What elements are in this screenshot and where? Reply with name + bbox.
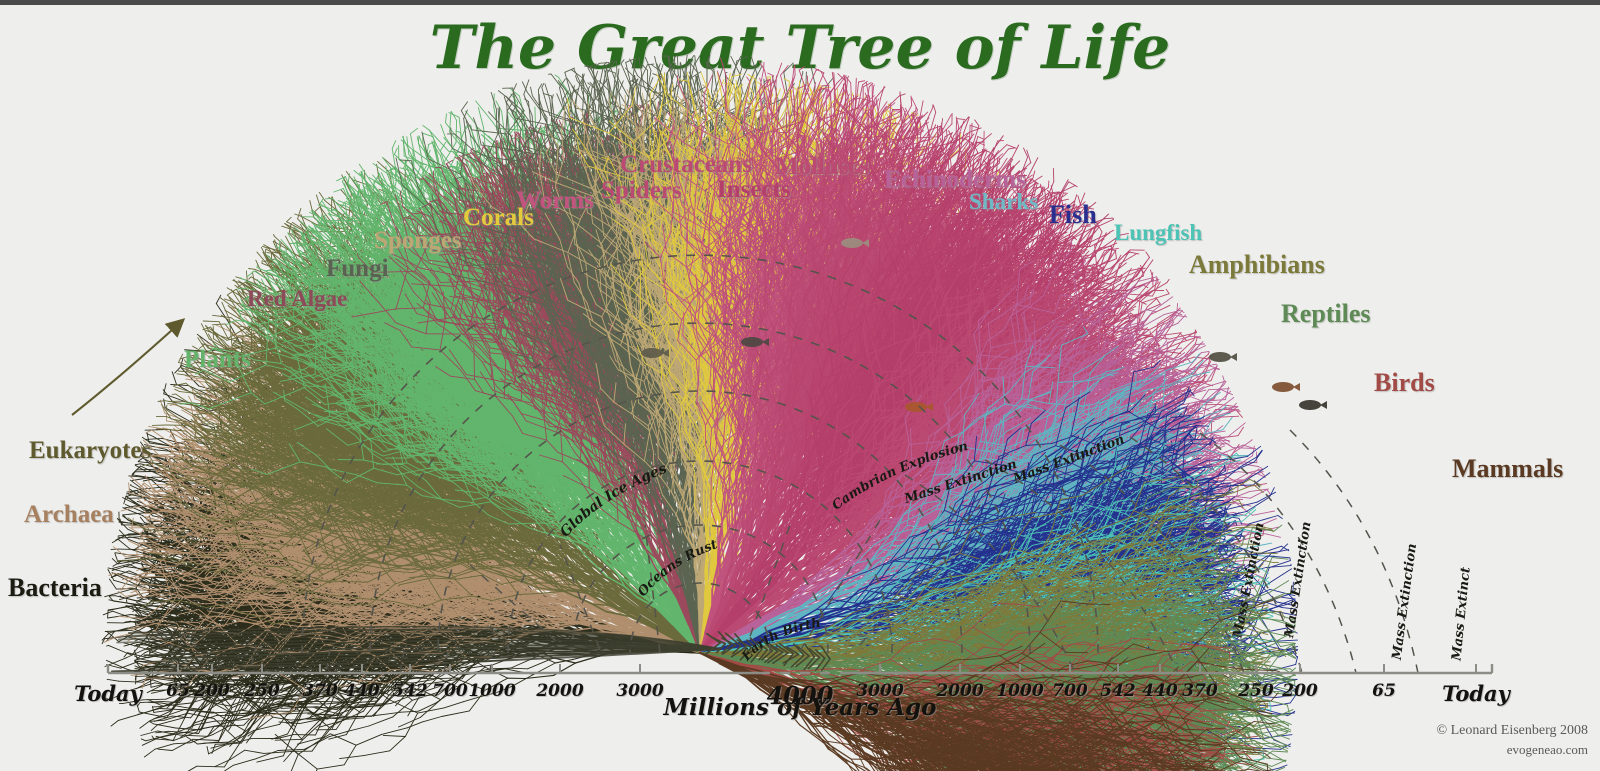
clade-label-fish: Fish xyxy=(1049,200,1097,230)
clade-label-plants: Plants xyxy=(184,346,251,374)
clade-label-spiders: Spiders xyxy=(601,177,682,205)
clade-label-reptiles: Reptiles xyxy=(1281,299,1371,329)
clade-label-bacteria: Bacteria xyxy=(8,573,102,603)
clade-label-worms: Worms xyxy=(516,187,594,215)
clade-label-eukaryotes: Eukaryotes xyxy=(29,437,151,465)
clade-label-fungi: Fungi xyxy=(326,255,389,283)
clade-label-lungfish: Lungfish xyxy=(1114,220,1202,246)
clade-label-sponges: Sponges xyxy=(374,227,462,255)
copyright-credit: © Leonard Eisenberg 2008 evogeneao.com xyxy=(1436,721,1588,760)
credit-author: © Leonard Eisenberg 2008 xyxy=(1436,721,1588,741)
clade-label-molluscs: Molluscs xyxy=(775,153,869,181)
credit-website[interactable]: evogeneao.com xyxy=(1436,741,1588,760)
clade-label-mammals: Mammals xyxy=(1452,454,1563,484)
clade-label-crustaceans: Crustaceans xyxy=(620,151,752,179)
x-axis-title: Millions of Years Ago xyxy=(0,694,1600,721)
clade-label-archaea: Archaea xyxy=(24,501,114,529)
clade-label-amphibians: Amphibians xyxy=(1189,250,1325,280)
clade-label-birds: Birds xyxy=(1374,368,1435,398)
clade-label-red-algae: Red Algae xyxy=(247,286,347,312)
eukaryotes-pointer-arrow xyxy=(0,5,1600,771)
tree-of-life-figure: The Great Tree of Life Global Ice AgesOc… xyxy=(0,5,1600,771)
clade-label-sharks: Sharks xyxy=(969,189,1038,215)
